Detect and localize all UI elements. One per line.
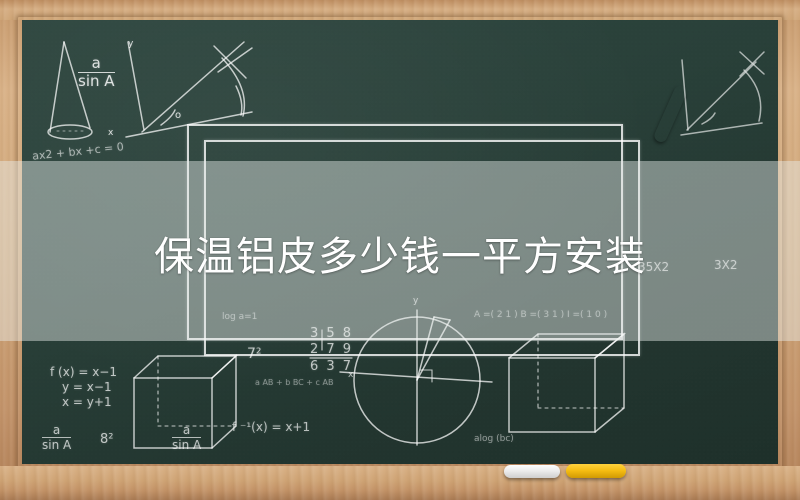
blackboard-banner: a sin A y x o ax2 + bx +c = 0 35X2 3X2 y… bbox=[0, 0, 800, 500]
yellow-chalk-icon bbox=[566, 464, 626, 478]
frame-inner-shadow bbox=[18, 17, 782, 470]
white-chalk-icon bbox=[504, 465, 560, 478]
wooden-chalk-tray bbox=[0, 466, 800, 500]
